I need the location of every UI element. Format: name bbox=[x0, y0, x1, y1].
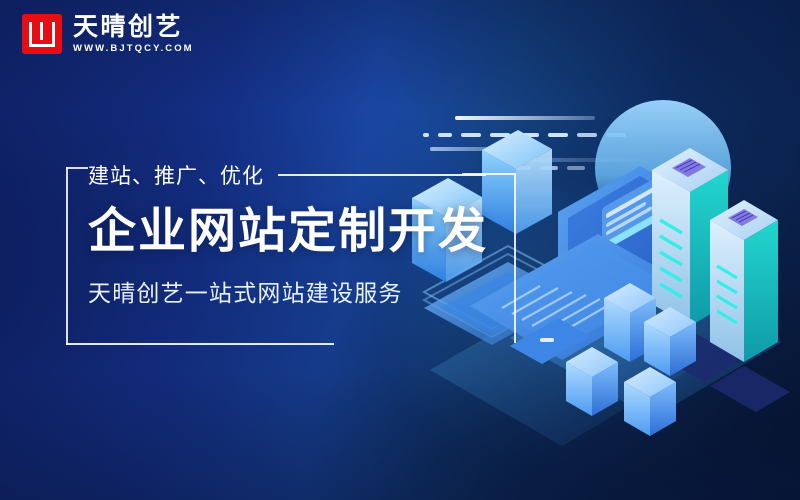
tqcy-logo-mark-icon bbox=[22, 14, 62, 54]
brand-text: 天晴创艺 WWW.BJTQCY.COM bbox=[73, 14, 194, 54]
brand-name: 天晴创艺 bbox=[73, 14, 194, 41]
eyebrow-text: 建站、推广、优化 bbox=[88, 160, 264, 190]
eyebrow-row: 建站、推广、优化 bbox=[88, 160, 518, 190]
brand-logo[interactable]: 天晴创艺 WWW.BJTQCY.COM bbox=[22, 14, 194, 54]
eyebrow-rule bbox=[278, 174, 486, 176]
headline-copy-block: 建站、推广、优化 企业网站定制开发 天晴创艺一站式网站建设服务 bbox=[88, 160, 518, 307]
page-title: 企业网站定制开发 bbox=[88, 204, 518, 260]
promo-banner: 天晴创艺 WWW.BJTQCY.COM 建站、推广、优化 企业网站定制开发 天晴… bbox=[0, 0, 800, 500]
server-rack-small bbox=[710, 200, 790, 412]
brand-url: WWW.BJTQCY.COM bbox=[73, 44, 194, 54]
subheadline: 天晴创艺一站式网站建设服务 bbox=[88, 280, 518, 308]
